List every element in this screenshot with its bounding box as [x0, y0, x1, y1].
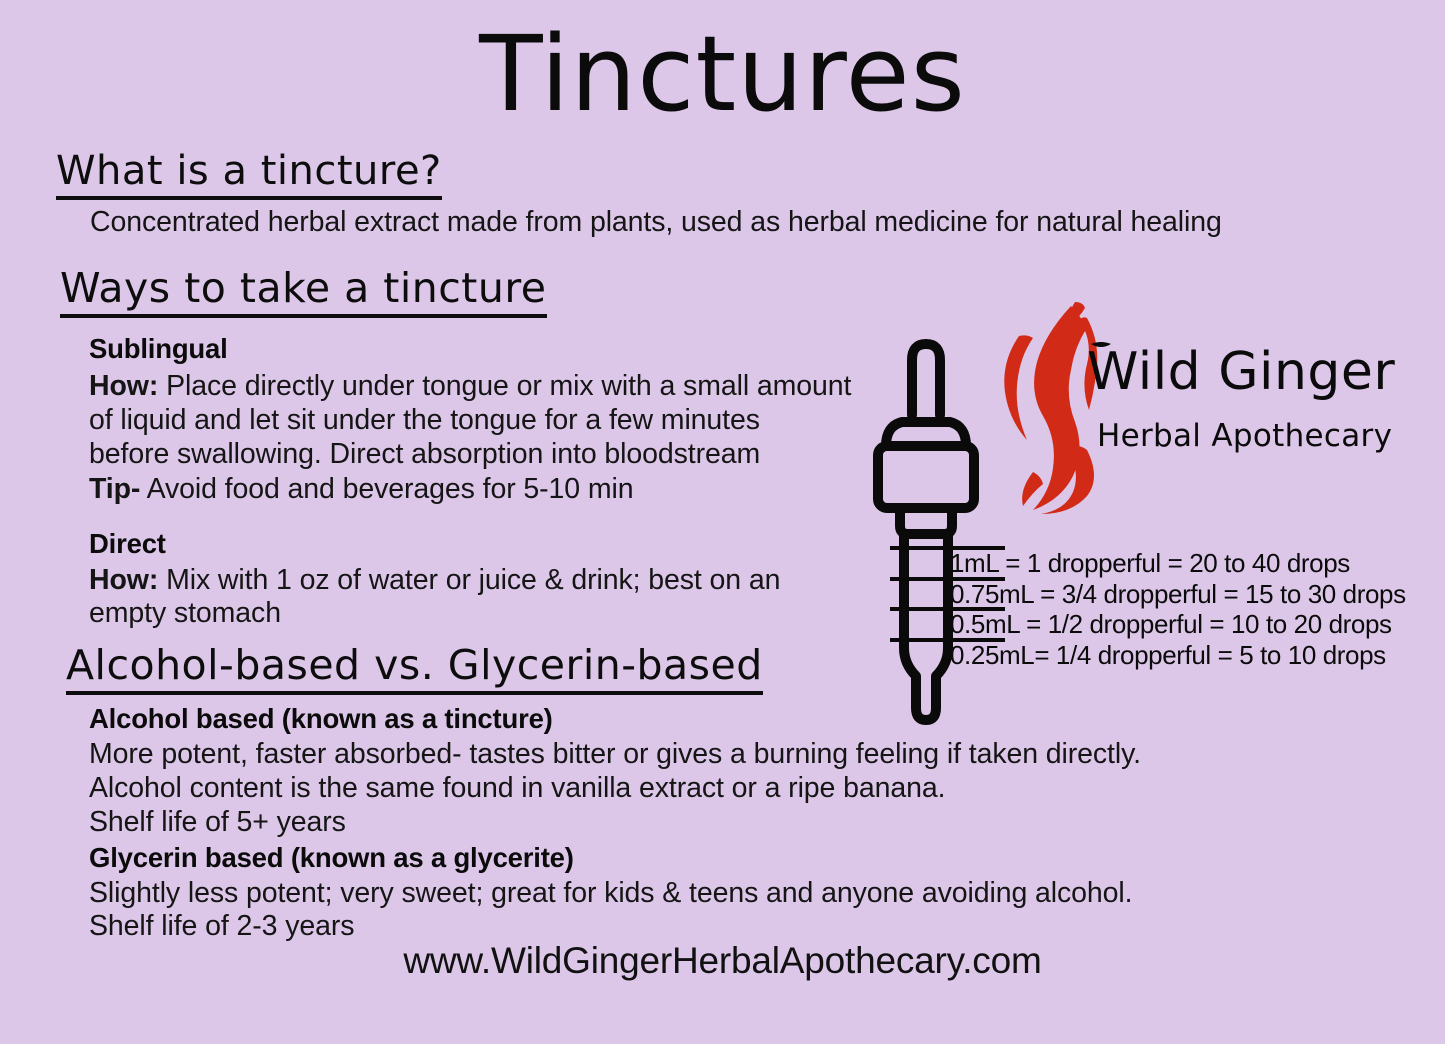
sublingual-tip-line: Tip- Avoid food and beverages for 5-10 m…	[89, 473, 634, 506]
direct-line-1: How: Mix with 1 oz of water or juice & d…	[89, 564, 780, 597]
page-title: Tinctures	[0, 22, 1445, 126]
sublingual-tip-text: Avoid food and beverages for 5-10 min	[147, 473, 634, 505]
alcohol-based-line-2: Alcohol content is the same found in van…	[89, 772, 945, 805]
direct-line-1-label: How:	[89, 564, 158, 596]
section-heading-what-is-a-tincture-text: What is a tincture?	[56, 148, 442, 200]
what-is-a-tincture-definition: Concentrated herbal extract made from pl…	[90, 206, 1222, 239]
tinctures-infographic-poster: Tinctures What is a tincture? Concentrat…	[0, 0, 1445, 1044]
glycerin-based-shelf-life: Shelf life of 2-3 years	[89, 910, 354, 943]
section-heading-ways-to-take-a-tincture-text: Ways to take a tincture	[60, 264, 547, 318]
sublingual-line-1-text: Place directly under tongue or mix with …	[166, 370, 851, 402]
section-heading-what-is-a-tincture: What is a tincture?	[56, 148, 442, 200]
brand-subtitle: Herbal Apothecary	[1097, 418, 1392, 454]
section-heading-alcohol-vs-glycerin-text: Alcohol-based vs. Glycerin-based	[66, 641, 763, 695]
direct-line-2: empty stomach	[89, 597, 281, 630]
section-heading-ways-to-take-a-tincture: Ways to take a tincture	[60, 264, 547, 318]
method-title-direct: Direct	[89, 528, 166, 560]
sublingual-line-1: How: Place directly under tongue or mix …	[89, 370, 851, 403]
website-url: www.WildGingerHerbalApothecary.com	[0, 940, 1445, 982]
type-title-glycerin-based: Glycerin based (known as a glycerite)	[89, 842, 574, 874]
glycerin-based-line-1: Slightly less potent; very sweet; great …	[89, 877, 1132, 910]
measurement-05ml: 0.5mL = 1/2 dropperful = 10 to 20 drops	[950, 609, 1392, 640]
measurement-075ml: 0.75mL = 3/4 dropperful = 15 to 30 drops	[950, 579, 1406, 610]
measurement-025ml: 0.25mL= 1/4 dropperful = 5 to 10 drops	[950, 640, 1386, 671]
alcohol-based-shelf-life: Shelf life of 5+ years	[89, 806, 346, 839]
brand-name: Wild Ginger	[1087, 342, 1395, 402]
direct-line-1-text: Mix with 1 oz of water or juice & drink;…	[166, 564, 780, 596]
measurement-row: 1mL = 1 dropperful = 20 to 40 drops	[950, 548, 1410, 579]
measurement-row: 0.5mL = 1/2 dropperful = 10 to 20 drops	[950, 609, 1410, 640]
alcohol-based-line-1: More potent, faster absorbed- tastes bit…	[89, 738, 1141, 771]
brand-logo: Wild Ginger Herbal Apothecary	[975, 300, 1375, 515]
sublingual-tip-label: Tip-	[89, 473, 140, 505]
method-title-sublingual: Sublingual	[89, 333, 228, 365]
measurement-1ml: 1mL = 1 dropperful = 20 to 40 drops	[950, 548, 1350, 579]
measurement-row: 0.25mL= 1/4 dropperful = 5 to 10 drops	[950, 640, 1410, 671]
sublingual-line-2: of liquid and let sit under the tongue f…	[89, 404, 760, 437]
sublingual-line-3: before swallowing. Direct absorption int…	[89, 438, 760, 471]
type-title-alcohol-based: Alcohol based (known as a tincture)	[89, 703, 553, 735]
flowing-ginger-hair-flame-icon	[975, 300, 1135, 515]
measurement-row: 0.75mL = 3/4 dropperful = 15 to 30 drops	[950, 579, 1410, 610]
dropper-measurement-legend: 1mL = 1 dropperful = 20 to 40 drops 0.75…	[950, 548, 1410, 670]
section-heading-alcohol-vs-glycerin: Alcohol-based vs. Glycerin-based	[66, 641, 763, 695]
sublingual-line-1-label: How:	[89, 370, 158, 402]
